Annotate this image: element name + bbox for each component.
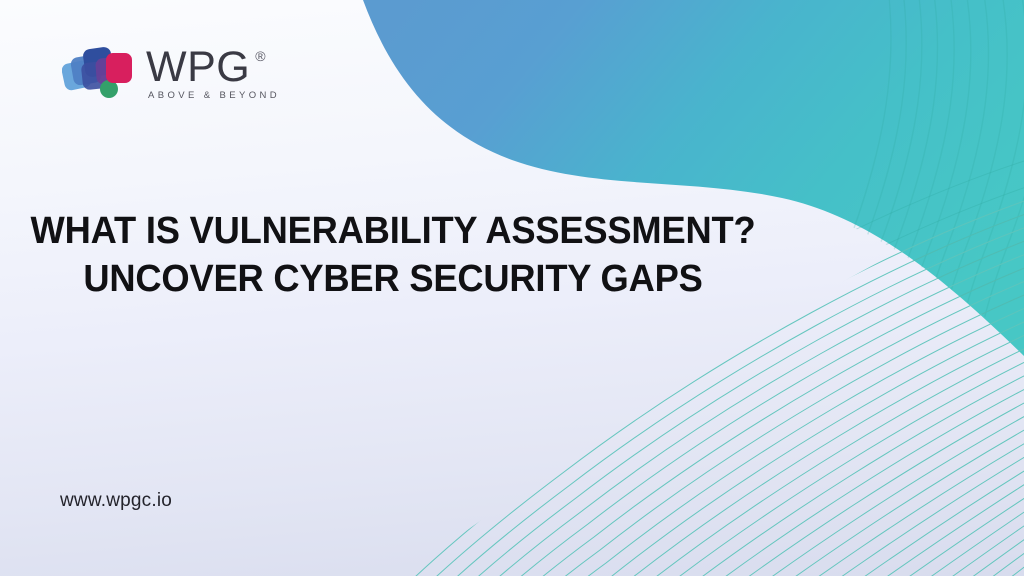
logo-shapes [62,46,132,98]
logo-wordmark: WPG [146,47,250,88]
website-url[interactable]: www.wpgc.io [60,490,172,512]
logo-square-pink [106,53,132,83]
registered-trademark-icon: ® [255,49,265,63]
wpg-overlapping-squares-logo [62,42,134,104]
brand-logo[interactable]: WPG ® ABOVE & BEYOND [62,42,280,104]
headline-line-2: UNCOVER CYBER SECURITY GAPS [18,256,769,304]
teal-ripples [811,0,1024,520]
headline-line-1: WHAT IS VULNERABILITY ASSESSMENT? [18,208,769,256]
logo-tagline: ABOVE & BEYOND [148,90,280,101]
logo-wordmark-group: WPG ® ABOVE & BEYOND [146,45,280,102]
page-title: WHAT IS VULNERABILITY ASSESSMENT? UNCOVE… [0,208,786,304]
banner-canvas: WPG ® ABOVE & BEYOND WHAT IS VULNERABILI… [0,0,1024,576]
